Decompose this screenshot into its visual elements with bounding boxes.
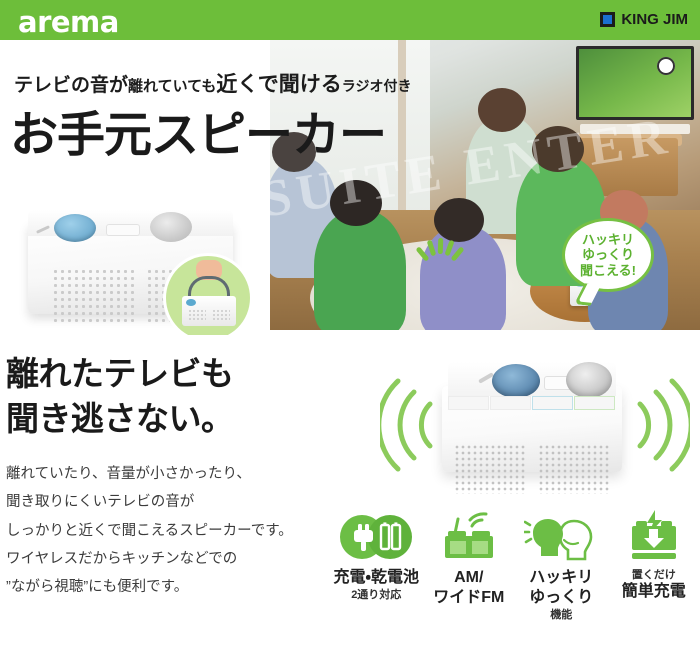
lead-heading: 離れたテレビも 聞き逃さない。 [6, 352, 234, 441]
tagline-part-3: 近くで聞ける [216, 73, 341, 96]
speaking-listening-heads-icon [515, 510, 607, 564]
body-line-5: ”ながら視聴”にも便利です。 [6, 573, 293, 601]
person-figure [314, 210, 406, 330]
feature-pre-text: 置くだけ [608, 568, 700, 582]
sound-wave-left-icon [380, 370, 440, 480]
lead-line-2: 聞き逃さない。 [6, 397, 234, 442]
body-line-3: しっかりと近くで聞こえるスピーカーです。 [6, 517, 293, 545]
feature-sub-text: 2通り対応 [330, 588, 422, 603]
kingjim-square-icon [600, 12, 615, 27]
kingjim-logo[interactable]: KING JIM [600, 11, 688, 28]
strap-photo-circle [166, 256, 250, 335]
charging-cradle-icon [608, 510, 700, 564]
product-key-row-decor [448, 396, 616, 410]
product-showcase [380, 350, 690, 500]
strap-decor [188, 276, 230, 298]
grey-dial-decor [150, 212, 192, 242]
tagline-part-2: 離れていても [128, 78, 216, 95]
radio-antenna-icon [423, 510, 515, 564]
product-grille-right-decor [538, 444, 610, 494]
tagline-part-4: ラジオ付き [342, 78, 412, 94]
plug-battery-icon [330, 510, 422, 564]
feature-main-text: 簡単充電 [608, 582, 700, 602]
feature-main-text-line2: ワイドFM [423, 588, 515, 608]
speech-bubble: ハッキリ ゆっくり 聞こえる! [562, 218, 654, 292]
body-line-2: 聞き取りにくいテレビの音が [6, 488, 293, 516]
kingjim-label: KING JIM [621, 11, 688, 28]
feature-main-text-line2: ゆっくり [515, 588, 607, 608]
speaker-mini-decor [182, 296, 236, 326]
lead-line-1: 離れたテレビも [6, 352, 234, 397]
blue-dial-decor [54, 214, 96, 242]
feature-label: 充電・乾電池 2通り対応 [330, 568, 422, 603]
body-line-4: ワイヤレスだからキッチンなどでの [6, 545, 293, 573]
product-speaker-image [442, 356, 622, 474]
feature-label: AM/ ワイドFM [423, 568, 515, 608]
hero-tagline: テレビの音が離れていても近くで聞けるラジオ付き [14, 68, 411, 98]
advertisement-page: arema KING JIM SUITE ENTER [0, 0, 700, 650]
bubble-line-3: 聞こえる! [580, 263, 636, 279]
product-top-panel-decor [448, 362, 616, 396]
hero-title: お手元スピーカー [10, 95, 386, 165]
feature-sub-text: 機能 [515, 608, 607, 623]
brand-logo[interactable]: arema [18, 5, 119, 39]
feature-main-text: 充電・乾電池 [330, 568, 422, 588]
hero-section: SUITE ENTER テレビの音が離れていても近くで聞けるラジオ付き お手元ス… [0, 40, 700, 335]
feature-item: AM/ ワイドFM [423, 510, 515, 608]
product-volume-dial-decor [566, 362, 612, 398]
strap-feature-badge: 持ち運びに便利な ストラップ付き [156, 256, 260, 335]
product-tuning-dial-decor [492, 364, 540, 398]
bubble-line-1: ハッキリ [580, 232, 636, 248]
lower-section: 離れたテレビも 聞き逃さない。 離れていたり、音量が小さかったり、 聞き取りにく… [0, 340, 700, 650]
feature-label: ハッキリ ゆっくり 機能 [515, 568, 607, 623]
feature-main-text-line1: ハッキリ [515, 568, 607, 588]
feature-main-text-line1: AM/ [423, 568, 515, 588]
bubble-line-2: ゆっくり [580, 247, 636, 263]
person-figure [420, 226, 506, 330]
body-line-1: 離れていたり、音量が小さかったり、 [6, 460, 293, 488]
body-copy: 離れていたり、音量が小さかったり、 聞き取りにくいテレビの音が しっかりと近くで… [6, 460, 293, 601]
speaker-grille-left-decor [52, 268, 134, 326]
antenna-decor [36, 225, 50, 234]
speech-bubble-text: ハッキリ ゆっくり 聞こえる! [580, 232, 636, 279]
speaker-top-panel-decor [28, 210, 233, 236]
feature-list: 充電・乾電池 2通り対応 [330, 510, 700, 640]
speaker-button-decor [106, 224, 140, 236]
feature-item: 置くだけ 簡単充電 [608, 510, 700, 602]
product-grille-left-decor [454, 444, 526, 494]
site-header: arema KING JIM [0, 0, 700, 40]
feature-label: 置くだけ 簡単充電 [608, 568, 700, 602]
feature-item: ハッキリ ゆっくり 機能 [515, 510, 607, 623]
tagline-part-1: テレビの音が [14, 75, 128, 96]
television-decor [576, 46, 694, 120]
feature-item: 充電・乾電池 2通り対応 [330, 510, 422, 603]
sound-wave-right-icon [630, 370, 690, 480]
